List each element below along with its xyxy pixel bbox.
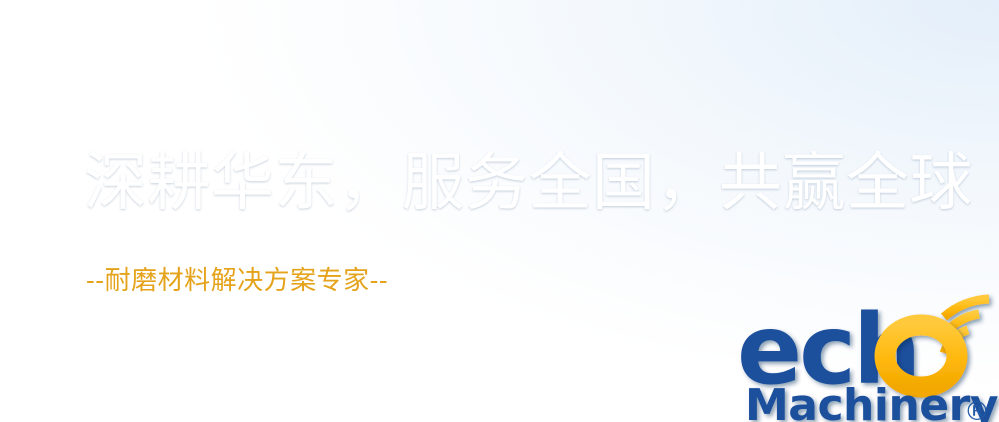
logo-text-machinery: Machinery [745, 380, 998, 422]
registered-trademark-icon: ® [964, 397, 990, 422]
logo-artwork: ech Machinery ® [739, 294, 997, 422]
echo-machinery-logo: ech Machinery ® [739, 294, 997, 422]
hero-banner: 深耕华东，服务全国，共赢全球 --耐磨材料解决方案专家-- [0, 0, 999, 422]
banner-subtitle: --耐磨材料解决方案专家-- [86, 266, 388, 297]
banner-headline: 深耕华东，服务全国，共赢全球 [84, 150, 973, 216]
